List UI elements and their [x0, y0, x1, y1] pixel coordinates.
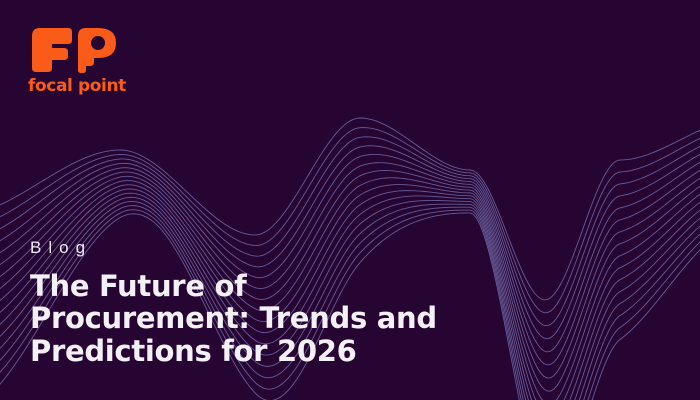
brand-logo[interactable]: focal point	[28, 26, 148, 95]
banner-content: Blog The Future of Procurement: Trends a…	[30, 239, 670, 368]
fp-monogram-icon	[28, 26, 120, 74]
title-line: Procurement: Trends and	[30, 301, 437, 335]
brand-wordmark: focal point	[28, 78, 148, 95]
page-title: The Future of Procurement: Trends and Pr…	[30, 270, 550, 368]
blog-banner: focal point Blog The Future of Procureme…	[0, 0, 700, 400]
title-line: Predictions for 2026	[30, 334, 357, 368]
category-label: Blog	[30, 239, 670, 256]
title-line: The Future of	[30, 269, 246, 303]
